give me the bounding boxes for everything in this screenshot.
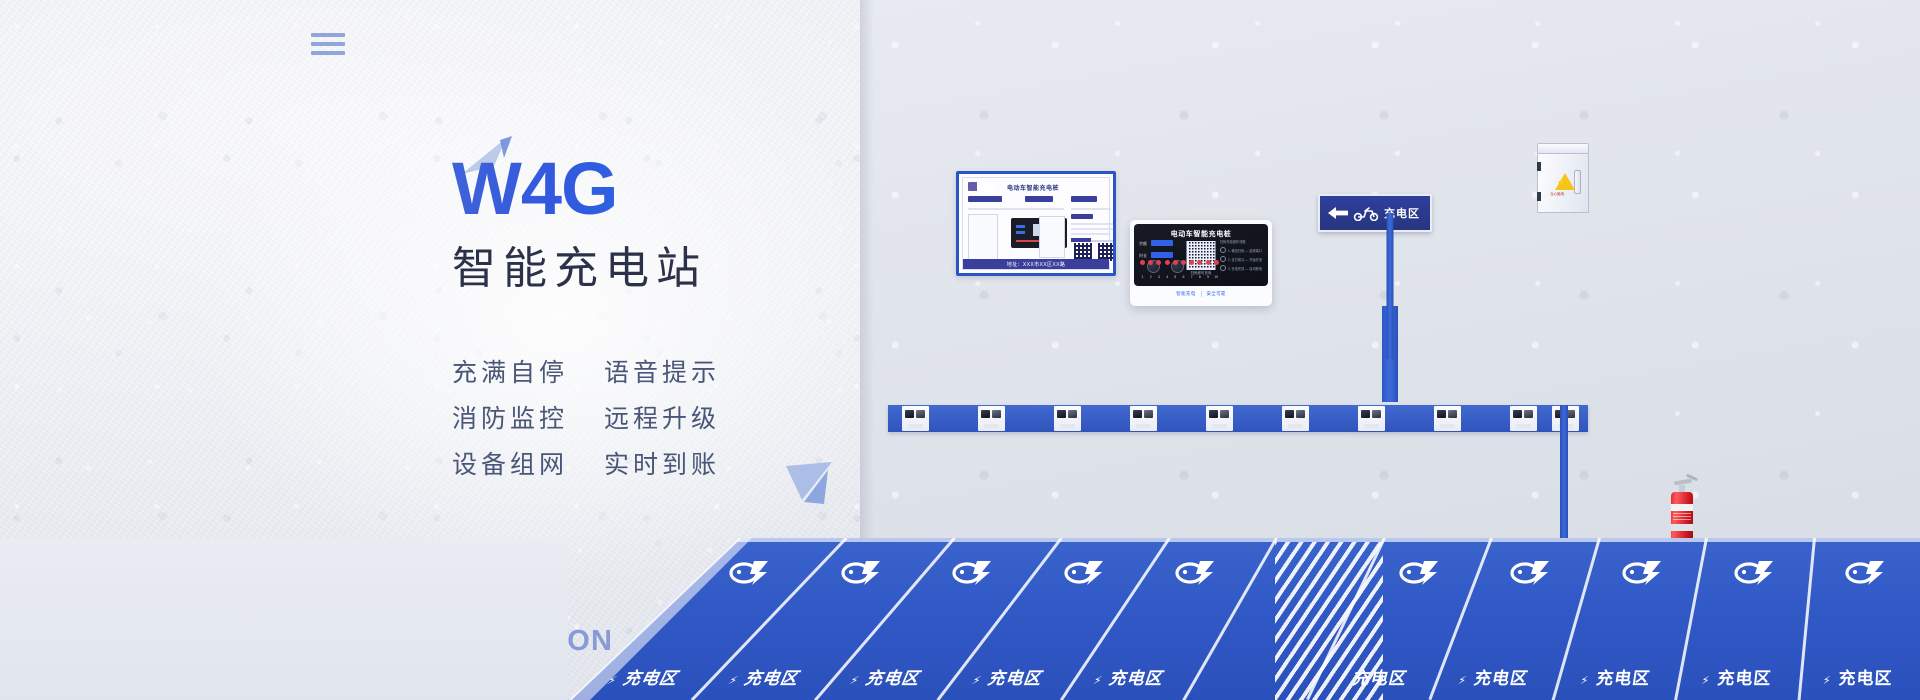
wall-socket[interactable] <box>1206 406 1233 431</box>
feature-item: 语音提示 <box>604 353 720 389</box>
port-number: 9 <box>1207 275 1209 279</box>
cabinet-conduit <box>1387 213 1394 359</box>
step-icon <box>1220 247 1226 253</box>
poster-footer: 地址：XXX市XX区XX路 <box>963 259 1109 269</box>
wall-outlet-rail <box>888 405 1588 432</box>
parking-lot-floor: ⚡ 充电区⚡ 充电区⚡ 充电区⚡ 充电区⚡ 充电区⚡ 充电区⚡ 充电区⚡ 充电区… <box>0 538 1920 700</box>
feature-item: 设备组网 <box>452 445 568 481</box>
pile-info-title: 扫码充电操作流程 <box>1220 239 1264 244</box>
charging-plug-symbol <box>1398 560 1440 591</box>
port: 6 <box>1181 260 1186 283</box>
wall-socket[interactable] <box>902 406 929 431</box>
feature-item: 实时到账 <box>604 445 720 481</box>
port-number: 6 <box>1182 275 1184 279</box>
port: 2 <box>1148 260 1153 283</box>
menu-bar-2 <box>311 42 345 46</box>
feature-item: 充满自停 <box>452 353 568 389</box>
bay-label: ⚡ 充电区 <box>725 664 806 689</box>
poster-chip <box>1071 196 1097 202</box>
poster-flow-box <box>968 214 998 260</box>
bay-label: ⚡ 充电区 <box>1457 664 1532 689</box>
poster-divider <box>1071 208 1111 210</box>
feature-item: 消防监控 <box>452 399 568 435</box>
wall-socket[interactable] <box>1358 406 1385 431</box>
poster-title: 电动车智能充电桩 <box>1007 183 1059 192</box>
warning-caption: 当心触电 <box>1550 192 1564 197</box>
bay-label: ⚡ 充电区 <box>1823 664 1894 689</box>
left-arrow-icon <box>1328 206 1348 220</box>
step-icon <box>1220 256 1226 262</box>
pile-footer: 智能充电 安全可靠 <box>1134 286 1268 302</box>
charging-plug-symbol <box>840 560 882 591</box>
pile-info-panel: 扫码充电操作流程 1. 微信扫码 — 选择端口 2. 支付成功 — 开始充电 3… <box>1220 239 1264 274</box>
port-led <box>1189 260 1194 265</box>
charging-plug-symbol <box>1509 560 1551 591</box>
page-title: W4G <box>452 153 707 226</box>
wall-socket[interactable] <box>1510 406 1537 431</box>
promo-banner: W4G 智能充电站 充满自停 语音提示 消防监控 远程升级 设备组网 实时到账 … <box>0 0 1920 700</box>
hatched-pedestrian-aisle <box>1275 542 1382 700</box>
pile-title: 电动车智能充电桩 <box>1171 229 1232 239</box>
decor-arrow-bottom <box>784 460 844 516</box>
pile-info-row: 2. 支付成功 — 开始充电 <box>1220 256 1264 262</box>
pile-port-indicators: 1 2 3 4 5 6 7 8 9 10 <box>1140 260 1219 283</box>
port-number: 7 <box>1191 275 1193 279</box>
charging-pile-device[interactable]: 电动车智能充电桩 余额 时长 扫码即可充电 扫码充电操作流程 1. 微信扫码 —… <box>1130 220 1272 306</box>
poster-divider <box>1071 223 1113 225</box>
warning-bolt-glyph: ⚡ <box>1556 178 1567 187</box>
menu-bar-1 <box>311 33 345 37</box>
poster-divider <box>1071 233 1109 235</box>
fire-extinguisher-icon <box>1668 474 1696 542</box>
port: 10 <box>1214 260 1219 283</box>
extinguisher-band <box>1671 524 1693 531</box>
port-led <box>1206 260 1211 265</box>
bay-label: ⚡ 充电区 <box>1701 664 1773 689</box>
rail-riser-conduit <box>1560 405 1568 555</box>
port-number: 1 <box>1142 275 1144 279</box>
pile-info-row: 1. 微信扫码 — 选择端口 <box>1220 247 1264 253</box>
headline-block: W4G 智能充电站 <box>452 153 707 296</box>
poster-feature-box <box>1039 216 1065 258</box>
feature-item: 远程升级 <box>604 399 720 435</box>
port-led <box>1140 260 1145 265</box>
poster-content: 电动车智能充电桩 <box>962 177 1110 270</box>
bay-label: ⚡ 充电区 <box>1091 664 1169 689</box>
port: 5 <box>1173 260 1178 283</box>
poster-chip <box>968 196 1002 202</box>
port: 4 <box>1165 260 1170 283</box>
cabinet-top <box>1537 143 1589 154</box>
charging-plug-symbol <box>1733 560 1775 591</box>
headline-light-wash <box>180 40 940 600</box>
cabinet-hinge <box>1537 192 1541 201</box>
hamburger-menu-icon[interactable] <box>311 33 345 55</box>
charging-plug-symbol <box>951 560 993 591</box>
charging-plug-symbol <box>1174 560 1216 591</box>
cabinet-handle[interactable] <box>1574 170 1581 194</box>
port-led <box>1148 260 1153 265</box>
port: 8 <box>1197 260 1202 283</box>
wall-socket[interactable] <box>1054 406 1081 431</box>
wall-socket[interactable] <box>1434 406 1461 431</box>
port-number: 10 <box>1214 275 1218 279</box>
port-led <box>1165 260 1170 265</box>
pile-info-text: 1. 微信扫码 — 选择端口 <box>1228 248 1262 253</box>
bay-label: ⚡ 充电区 <box>969 664 1048 689</box>
pile-info-text: 3. 充电完成 — 自动断电 <box>1228 266 1262 271</box>
port-number: 2 <box>1150 275 1152 279</box>
charging-plug-symbol <box>1844 560 1886 591</box>
port-led <box>1197 260 1202 265</box>
port: 3 <box>1156 260 1161 283</box>
cabinet-hinge <box>1537 162 1541 171</box>
scooter-icon <box>1353 206 1379 221</box>
charging-plug-symbol <box>728 560 770 591</box>
charging-plug-symbol <box>1063 560 1105 591</box>
bay-label: ⚡ 充电区 <box>1579 664 1653 689</box>
pile-info-text: 2. 支付成功 — 开始充电 <box>1228 257 1262 262</box>
port-number: 3 <box>1158 275 1160 279</box>
electrical-cabinet: ⚡ 当心触电 <box>1537 143 1589 213</box>
footer-divider <box>1201 291 1202 297</box>
poster-chip <box>1071 214 1093 219</box>
port: 7 <box>1189 260 1194 283</box>
wall-corner-shadow <box>860 0 874 560</box>
poster-chip <box>1025 196 1053 202</box>
feature-list: 充满自停 语音提示 消防监控 远程升级 设备组网 实时到账 <box>452 353 720 481</box>
extinguisher-label <box>1673 508 1691 520</box>
bay-divider-line <box>1797 538 1815 700</box>
pile-brand-alt: 安全可靠 <box>1207 291 1226 297</box>
page-subtitle: 智能充电站 <box>452 232 707 296</box>
port-led <box>1181 260 1186 265</box>
pile-value-duration <box>1151 252 1173 258</box>
port-number: 4 <box>1166 275 1168 279</box>
pile-brand: 智能充电 <box>1176 291 1195 297</box>
wall-socket[interactable] <box>978 406 1005 431</box>
info-poster: 电动车智能充电桩 <box>956 171 1116 276</box>
port-number: 8 <box>1199 275 1201 279</box>
port-led <box>1173 260 1178 265</box>
direction-sign: 充电区 <box>1318 194 1432 232</box>
port-led <box>1156 260 1161 265</box>
step-icon <box>1220 265 1226 271</box>
menu-bar-3 <box>311 51 345 55</box>
pile-screen: 电动车智能充电桩 余额 时长 扫码即可充电 扫码充电操作流程 1. 微信扫码 —… <box>1134 224 1268 286</box>
port-number: 5 <box>1174 275 1176 279</box>
cabinet-body: ⚡ 当心触电 <box>1537 154 1589 213</box>
pile-value-balance <box>1151 240 1173 246</box>
wall-socket[interactable] <box>1282 406 1309 431</box>
poster-footer-text: 地址：XXX市XX区XX路 <box>1007 261 1066 268</box>
port: 1 <box>1140 260 1145 283</box>
charging-plug-symbol <box>1621 560 1663 591</box>
poster-divider <box>968 208 1064 210</box>
port: 9 <box>1206 260 1211 283</box>
pile-info-row: 3. 充电完成 — 自动断电 <box>1220 265 1264 271</box>
poster-logo <box>968 182 994 191</box>
poster-divider <box>1071 228 1113 230</box>
pile-label-balance: 余额 <box>1139 241 1147 247</box>
port-led <box>1214 260 1219 265</box>
wall-socket[interactable] <box>1130 406 1157 431</box>
bay-label: ⚡ 充电区 <box>847 664 927 689</box>
pile-label-duration: 时长 <box>1139 253 1147 259</box>
